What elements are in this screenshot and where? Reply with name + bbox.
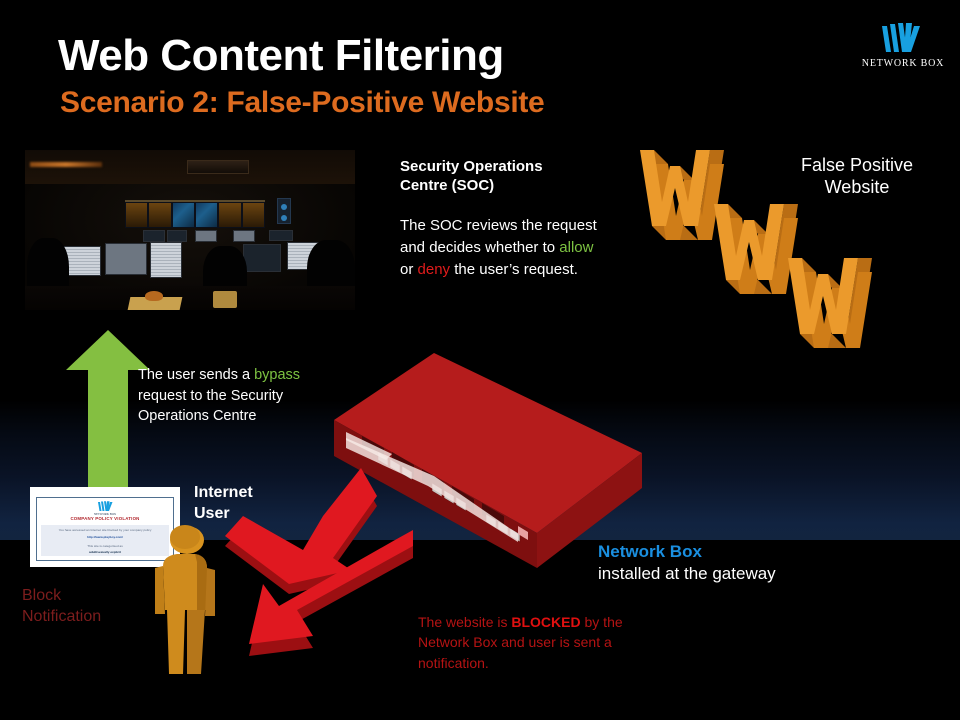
block-caption-line2: Notification xyxy=(22,607,101,628)
video-wall xyxy=(125,200,265,228)
bypass-description: The user sends a bypass request to the S… xyxy=(138,365,328,427)
soc-text-2: the user’s request. xyxy=(450,261,578,278)
network-box-logo: NETWORK BOX xyxy=(860,14,946,72)
network-box-label-subtitle: installed at the gateway xyxy=(598,563,776,585)
bypass-keyword: bypass xyxy=(254,367,300,383)
internet-user-label: Internet User xyxy=(194,483,253,525)
soc-heading: Security Operations Centre (SOC) xyxy=(400,158,600,196)
page-title: Web Content Filtering xyxy=(58,34,504,78)
bypass-text-2: request to the Security Operations Centr… xyxy=(138,388,283,425)
soc-allow-word: allow xyxy=(559,239,593,256)
fp-label-line1: False Positive xyxy=(752,155,960,177)
block-notification-caption: Block Notification xyxy=(22,586,101,628)
internet-user-figure-icon xyxy=(143,518,223,678)
slide-canvas: Web Content Filtering Scenario 2: False-… xyxy=(0,0,960,720)
network-box-label: Network Box installed at the gateway xyxy=(598,541,776,585)
user-label-line1: Internet xyxy=(194,483,253,504)
soc-deny-word: deny xyxy=(418,261,451,278)
bypass-text-1: The user sends a xyxy=(138,367,254,383)
monitor-bank xyxy=(25,228,355,288)
traffic-arrows xyxy=(225,468,415,663)
soc-text-mid: or xyxy=(400,261,418,278)
page-subtitle: Scenario 2: False-Positive Website xyxy=(60,88,544,118)
blocked-description: The website is BLOCKED by the Network Bo… xyxy=(418,612,648,673)
false-positive-website-label: False Positive Website xyxy=(752,155,960,198)
fp-label-line2: Website xyxy=(752,177,960,199)
soc-heading-line1: Security Operations xyxy=(400,158,600,177)
logo-wordmark: NETWORK BOX xyxy=(862,58,944,69)
block-caption-line1: Block xyxy=(22,586,101,607)
user-label-line2: User xyxy=(194,504,253,525)
network-box-label-title: Network Box xyxy=(598,541,776,563)
soc-photo xyxy=(25,150,355,310)
soc-description: The SOC reviews the request and decides … xyxy=(400,215,600,280)
soc-heading-line2: Centre (SOC) xyxy=(400,177,600,196)
blocked-text-1: The website is xyxy=(418,614,511,630)
blocked-keyword: BLOCKED xyxy=(511,614,580,630)
